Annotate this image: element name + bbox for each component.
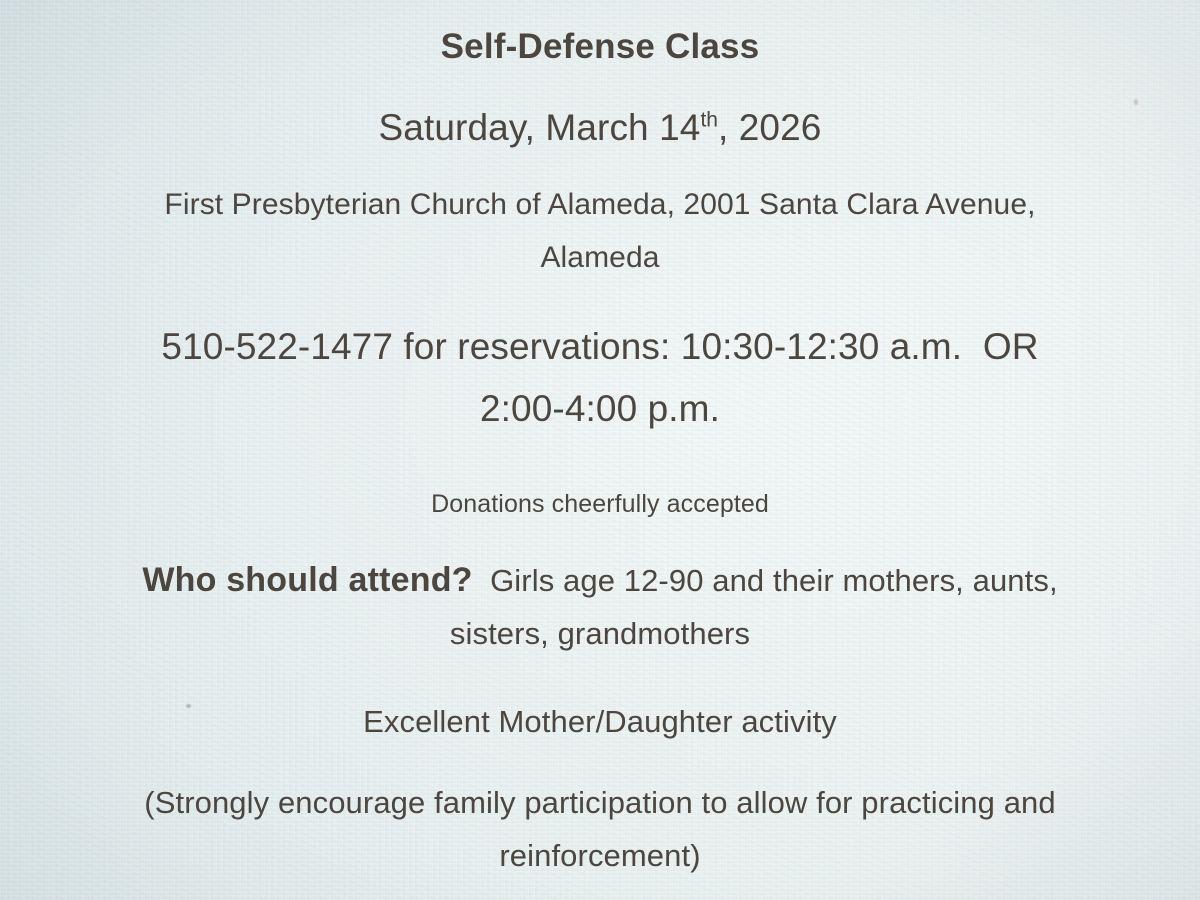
venue-address-line-2: Alameda [22,231,1178,284]
activity-note: Excellent Mother/Daughter activity [22,698,1178,746]
flyer-photo: Self-Defense Class Saturday, March 14th,… [0,0,1200,900]
event-date-suffix: , 2026 [718,107,821,148]
reservations-line-2: 2:00-4:00 p.m. [22,378,1178,440]
attend-spacer [473,563,490,598]
who-should-attend-answer-line-2: sisters, grandmothers [22,607,1178,660]
event-date-line: Saturday, March 14th, 2026 [22,100,1178,156]
reservations-line-1: 510-522-1477 for reservations: 10:30-12:… [22,316,1178,378]
who-should-attend-answer-line-1: Girls age 12-90 and their mothers, aunts… [490,563,1058,598]
family-participation-note-line-1: (Strongly encourage family participation… [22,776,1178,829]
flyer-title: Self-Defense Class [22,18,1178,76]
flyer-content: Self-Defense Class Saturday, March 14th,… [0,0,1200,900]
who-should-attend-question: Who should attend? [142,561,472,599]
event-date-prefix: Saturday, March 14 [379,107,701,148]
donations-note: Donations cheerfully accepted [22,484,1178,524]
event-date-ordinal-suffix: th [700,109,718,132]
who-should-attend-line: Who should attend? Girls age 12-90 and t… [22,554,1178,607]
family-participation-note-line-2: reinforcement) [22,829,1178,882]
venue-address-line-1: First Presbyterian Church of Alameda, 20… [22,178,1178,231]
